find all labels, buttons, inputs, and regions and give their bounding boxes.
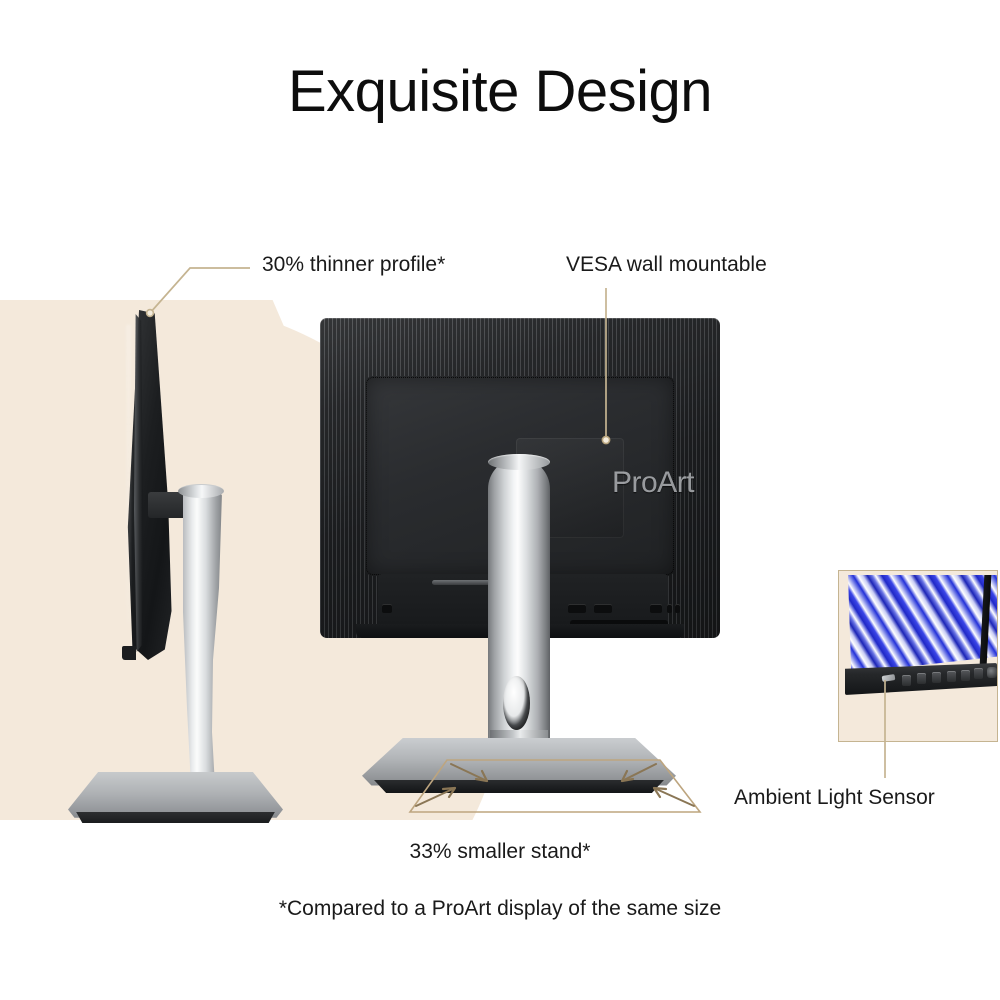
osd-button-3[interactable]	[932, 672, 941, 683]
back-stand-column-cap	[488, 454, 550, 470]
osd-button-1[interactable]	[902, 675, 911, 686]
io-port-usb-c	[675, 604, 680, 613]
page-title: Exquisite Design	[0, 58, 1000, 125]
proart-logo: ProArt	[612, 466, 694, 500]
product-feature-graphic: Exquisite Design ProArt	[0, 0, 1000, 1000]
osd-button-5[interactable]	[961, 670, 970, 681]
osd-button-6[interactable]	[974, 668, 983, 679]
io-port-usb-b	[667, 604, 672, 613]
side-stand-column	[176, 486, 226, 786]
callout-label-vesa-mount: VESA wall mountable	[566, 253, 767, 277]
osd-button-2[interactable]	[917, 673, 926, 684]
callout-label-ambient-light-sensor: Ambient Light Sensor	[734, 786, 935, 810]
ambient-light-sensor-inset	[838, 570, 998, 742]
io-port-usb-a	[650, 604, 662, 613]
side-stand-column-cap	[178, 484, 224, 498]
io-port-hdmi-2	[594, 604, 612, 613]
osd-button-4[interactable]	[947, 671, 956, 682]
callout-label-thinner-profile: 30% thinner profile*	[262, 253, 445, 277]
inset-screen-stripes	[848, 575, 998, 673]
io-port-hdmi-1	[568, 604, 586, 613]
back-stand-base-shadow	[368, 780, 670, 793]
osd-joystick[interactable]	[987, 667, 997, 678]
cable-management-hole	[503, 676, 530, 730]
side-panel-nub	[122, 646, 136, 660]
monitor-back-view: ProArt	[320, 318, 720, 818]
side-stand-base-shadow	[72, 812, 279, 823]
monitor-side-view	[60, 310, 300, 820]
footnote-text: *Compared to a ProArt display of the sam…	[0, 897, 1000, 921]
io-port-power	[382, 604, 392, 613]
callout-label-smaller-stand: 33% smaller stand*	[0, 840, 1000, 864]
side-panel-highlight	[126, 324, 131, 624]
